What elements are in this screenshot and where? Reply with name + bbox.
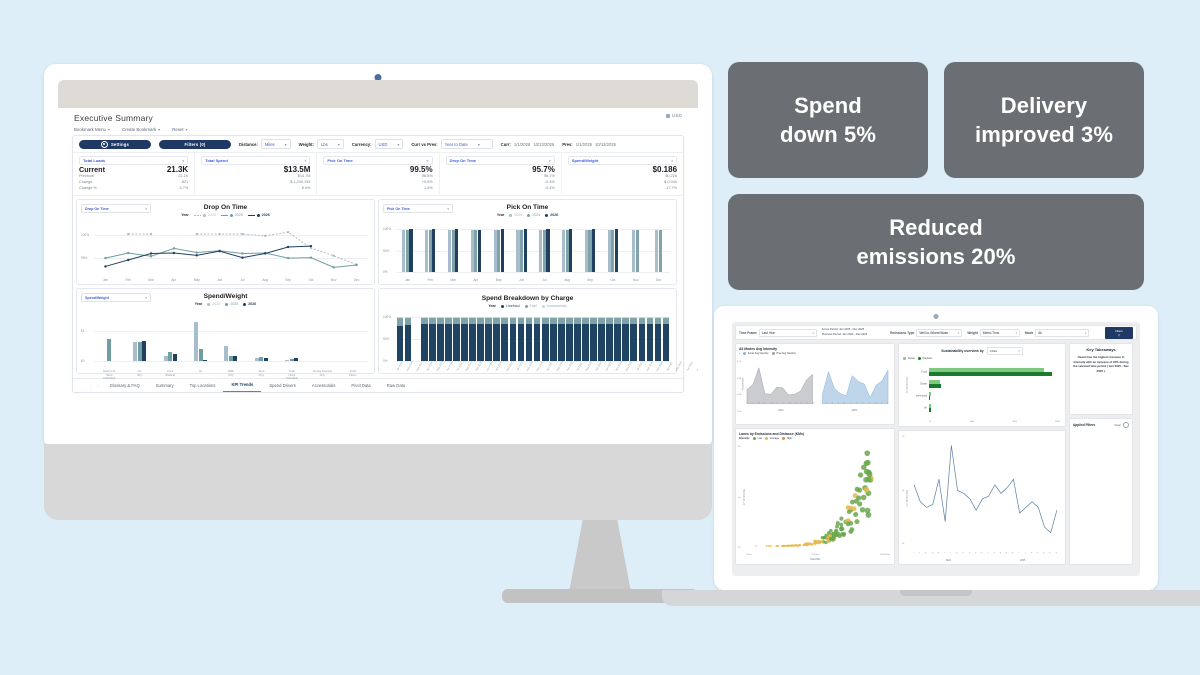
bar-2025[interactable] xyxy=(659,230,662,272)
x-axis-tick: Truck(TempControlled) xyxy=(277,370,307,381)
legend-item-low[interactable]: Low xyxy=(753,437,762,440)
bookmark-menu-item[interactable]: Bookmark Menu▾ xyxy=(74,127,110,132)
x-axis-tick: Sep xyxy=(277,279,300,283)
stacked-bar[interactable] xyxy=(534,317,541,361)
legend-toggle-icon[interactable]: ▪ xyxy=(739,352,740,355)
segment-Linehaul xyxy=(630,324,637,361)
x-axis: JFMAMJJASONDJFMAMJJASOND xyxy=(744,402,891,404)
segment-Fuel xyxy=(405,318,412,325)
x-axis-tick: A xyxy=(861,400,866,406)
y-axis-tick: 7k xyxy=(902,436,904,438)
scatter-point xyxy=(782,545,784,547)
kpi-select[interactable]: Drop On Time▾ xyxy=(446,156,555,165)
y-axis-tick: 50% xyxy=(383,249,389,253)
legend-item-2026[interactable]: 2026 xyxy=(545,213,558,217)
x-axis-group-label: 2024 xyxy=(911,559,986,562)
screenshot-canvas: Executive Summary USD Bookmark Menu▾ Cre… xyxy=(0,0,1200,675)
x-axis-tick: 400k xyxy=(1012,421,1017,423)
bar-group xyxy=(647,228,670,272)
line-chart-svg xyxy=(94,228,368,272)
x-axis-tick: Apr 2025 xyxy=(546,362,553,372)
bar-2026[interactable] xyxy=(203,360,207,361)
stacked-bar[interactable] xyxy=(655,317,662,361)
bar-group xyxy=(517,317,525,361)
curr-to-date[interactable]: 10/13/2026 xyxy=(533,142,554,147)
stacked-bar[interactable] xyxy=(518,317,525,361)
x-axis-tick: J xyxy=(986,550,991,556)
stacked-bar[interactable] xyxy=(614,317,621,361)
chevron-down-icon: ▾ xyxy=(145,207,147,211)
data-point xyxy=(196,251,198,253)
bar-group xyxy=(556,228,579,272)
kpi-select[interactable]: Total Loads▾ xyxy=(79,156,188,165)
hbar-Previous[interactable] xyxy=(929,408,931,412)
stacked-bar[interactable] xyxy=(639,317,646,361)
bar-2026[interactable] xyxy=(173,354,177,361)
y-axis-tick: 0.12 xyxy=(737,361,741,363)
scatter-point xyxy=(863,487,869,493)
bar-2026[interactable] xyxy=(432,229,435,272)
bar-2024[interactable] xyxy=(194,322,198,361)
x-axis-tick: M xyxy=(924,550,929,556)
spend-weight-select[interactable]: Spend/Weight ▾ xyxy=(81,293,151,302)
stacked-bar[interactable] xyxy=(421,317,428,361)
gear-icon xyxy=(101,141,108,148)
x-axis-tick: Sep xyxy=(579,279,602,283)
stacked-bar[interactable] xyxy=(606,317,613,361)
bar-2025[interactable] xyxy=(107,339,111,361)
x-axis-tick: N xyxy=(806,400,811,406)
x-axis-tick: Jan 2026 xyxy=(636,361,644,371)
chevron-down-icon: ▾ xyxy=(338,142,340,147)
x-axis-tick: May xyxy=(185,279,208,283)
data-point xyxy=(150,252,152,254)
scatter-point xyxy=(796,544,798,546)
x-axis-tick: Dec xyxy=(647,279,670,283)
legend-item-2025[interactable]: 2025 xyxy=(225,302,238,306)
chevron-down-icon: ▾ xyxy=(145,296,147,300)
bar-2024[interactable] xyxy=(255,358,259,361)
middle-column: Sustainability overview by CO2e▾ Focus P… xyxy=(898,343,1066,565)
segment-Linehaul xyxy=(574,324,581,361)
filters-button[interactable]: Filters (0) xyxy=(159,140,231,149)
bar-2024[interactable] xyxy=(224,346,228,361)
right-column: Key Takeaways Ocean has the highest incr… xyxy=(1069,343,1133,565)
legend-item-focus[interactable]: Focus Avg Intensity xyxy=(743,352,769,355)
scatter-point xyxy=(853,512,858,517)
bar-group xyxy=(541,317,549,361)
stacked-bar[interactable] xyxy=(437,317,444,361)
scatter-point xyxy=(848,529,853,534)
y-axis-tick: 0.04 xyxy=(737,394,741,396)
x-axis-tick: J xyxy=(949,550,954,556)
stacked-bar[interactable] xyxy=(582,317,589,361)
hbar-Focus[interactable] xyxy=(929,368,1044,372)
bar-group xyxy=(565,317,573,361)
tab-top-locations[interactable]: Top Locations xyxy=(182,380,224,392)
card-title: All Modes Avg Intensity xyxy=(739,347,891,351)
scatter-point xyxy=(839,523,843,527)
bar-group xyxy=(630,317,638,361)
timeframe-select[interactable]: Last Year▾ xyxy=(759,329,817,337)
stacked-bar[interactable] xyxy=(477,317,484,361)
chevron-down-icon: ▾ xyxy=(285,142,287,147)
compare-select[interactable]: Year to Date ▾ xyxy=(441,139,493,149)
stacked-bar[interactable] xyxy=(453,317,460,361)
data-point xyxy=(196,233,198,235)
drop-on-time-select[interactable]: Drop On Time ▾ xyxy=(81,204,151,213)
legend-item-average[interactable]: Average xyxy=(765,437,779,440)
bar-group xyxy=(428,317,436,361)
stacked-bar[interactable] xyxy=(542,317,549,361)
x-axis: Jan 2024Feb 2024Mar 2024Apr 2024May 2024… xyxy=(396,370,670,373)
kpi-card-pick-on-time: Pick On Time▾99.5%98.5%+0.9%1.0% xyxy=(317,153,439,195)
x-axis-tick: F xyxy=(992,550,997,556)
stacked-bar[interactable] xyxy=(630,317,637,361)
bar-2026[interactable] xyxy=(592,229,595,272)
bar-2025[interactable] xyxy=(290,359,294,361)
y-axis-tick: 0% xyxy=(383,359,388,363)
bar-2025[interactable] xyxy=(636,230,639,272)
reset-bookmark-item[interactable]: Reset▾ xyxy=(172,127,188,132)
x-axis-tick: Feb 2026 xyxy=(646,361,654,371)
scatter-point xyxy=(835,524,839,528)
weight-filter: Weight Metric Tons▾ xyxy=(967,329,1020,337)
data-point xyxy=(241,256,243,258)
segment-Linehaul xyxy=(429,324,436,361)
bar-2025[interactable] xyxy=(229,356,233,361)
x-axis-tick: Apr xyxy=(162,279,185,283)
card-legend: Intensity: Low Average High xyxy=(739,437,891,440)
legend-item-high[interactable]: High xyxy=(782,437,792,440)
stacked-bar[interactable] xyxy=(429,317,436,361)
card-sustainability-overview: Sustainability overview by CO2e▾ Focus P… xyxy=(898,343,1066,427)
bar-group xyxy=(307,317,337,361)
chevron-down-icon: ▾ xyxy=(158,127,160,132)
tab-glossary-faq[interactable]: Glossary & FAQ xyxy=(102,380,148,392)
x-axis-tick: F xyxy=(918,550,923,556)
bar-group xyxy=(638,317,646,361)
category-label: Intermodal xyxy=(903,395,927,398)
scatter-point xyxy=(839,517,843,521)
stacked-bar[interactable] xyxy=(405,317,412,361)
legend-item-2024[interactable]: 2024 xyxy=(509,213,522,217)
hbar-Focus[interactable] xyxy=(929,404,931,408)
stacked-bar[interactable] xyxy=(413,317,420,361)
chart-grid: Drop On Time ▾ Drop On Time Year xyxy=(73,196,683,377)
data-point xyxy=(173,252,175,254)
bar-group xyxy=(606,317,614,361)
co2e-select[interactable]: CO2e▾ xyxy=(987,347,1023,355)
monitor-chin xyxy=(44,444,712,520)
kpi-select[interactable]: Pick On Time▾ xyxy=(323,156,432,165)
stacked-bar[interactable] xyxy=(469,317,476,361)
bar-2026[interactable] xyxy=(569,229,572,272)
chart-card-pick-on-time: Pick On Time ▾ Pick On Time Year 2024 20… xyxy=(378,199,677,285)
x-axis-tick: J xyxy=(855,400,860,406)
stacked-bar[interactable] xyxy=(461,317,468,361)
chevron-down-icon: ▾ xyxy=(549,159,551,163)
bar-2026[interactable] xyxy=(501,229,504,272)
stacked-bar[interactable] xyxy=(501,317,508,361)
scatter-point xyxy=(857,488,862,493)
segment-Linehaul xyxy=(622,324,629,361)
currency-select[interactable]: USD ▾ xyxy=(375,139,404,149)
x-axis-tick: Aug xyxy=(556,279,579,283)
segment-Linehaul xyxy=(550,324,557,361)
x-axis-group-label: 2025 xyxy=(818,409,892,412)
bar-2026[interactable] xyxy=(142,341,146,361)
line-series-2025 xyxy=(105,248,356,267)
legend-item-2024[interactable]: 2024 xyxy=(207,302,220,306)
y-axis-tick: 0k xyxy=(738,446,740,448)
bar-group xyxy=(493,317,501,361)
x-axis-tick: D xyxy=(980,550,985,556)
monitor-screen: Executive Summary USD Bookmark Menu▾ Cre… xyxy=(58,80,698,435)
stacked-bar[interactable] xyxy=(558,317,565,361)
area-series-Focus Avg Intensity xyxy=(822,370,888,404)
bar-2026[interactable] xyxy=(409,229,412,272)
x-axis-label: Total KMs xyxy=(736,558,894,561)
y-axis-tick: 100% xyxy=(81,233,89,237)
hbar-Previous[interactable] xyxy=(929,372,1052,376)
bar-group xyxy=(396,317,404,361)
stacked-bar[interactable] xyxy=(397,317,404,361)
stacked-bar[interactable] xyxy=(445,317,452,361)
hbar-Focus[interactable] xyxy=(929,380,940,384)
scatter-point xyxy=(826,536,830,540)
kpi-strip: Total Loads▾Current21.3KPrevious22.1KCha… xyxy=(73,153,683,196)
x-axis-tick: Oct 2025 xyxy=(605,362,612,372)
executive-summary-dashboard: Executive Summary USD Bookmark Menu▾ Cre… xyxy=(58,108,698,435)
kpi-select[interactable]: Total Spend▾ xyxy=(201,156,310,165)
x-axis: JFMAMJJASONDJFMAMJJASOND xyxy=(911,552,1060,554)
bar-2026[interactable] xyxy=(233,356,237,361)
scatter-point xyxy=(863,477,869,483)
bar-group xyxy=(509,317,517,361)
hbar-Previous[interactable] xyxy=(929,384,941,388)
x-axis-tick: D xyxy=(1054,550,1059,556)
x-axis-tick: Sep 2024 xyxy=(475,361,483,371)
weight-select[interactable]: Metric Tons▾ xyxy=(980,329,1020,337)
settings-button[interactable]: Settings xyxy=(79,140,151,149)
bar-group xyxy=(487,228,510,272)
bar-group xyxy=(404,317,412,361)
bar-2025[interactable] xyxy=(168,352,172,361)
bar-2026[interactable] xyxy=(455,229,458,272)
sustainability-dashboard: Time Frame Last Year▾ Focus Period: Jan … xyxy=(732,322,1140,576)
stacked-bar[interactable] xyxy=(647,317,654,361)
weight-select[interactable]: Lbs ▾ xyxy=(317,139,344,149)
x-axis-tick: Dec 2024 xyxy=(506,361,514,371)
legend-item-accessorials[interactable]: Accessorials xyxy=(542,304,567,308)
x-axis-tick: S xyxy=(961,550,966,556)
x-axis-tick: Jun 2025 xyxy=(566,361,574,371)
bar-group xyxy=(185,317,215,361)
bar-2025[interactable] xyxy=(199,349,203,361)
x-axis-tick: Nov xyxy=(322,279,345,283)
stacked-bar[interactable] xyxy=(622,317,629,361)
segment-Linehaul xyxy=(614,324,621,361)
data-point xyxy=(287,246,289,248)
bar-2026[interactable] xyxy=(615,229,618,272)
x-axis-tick: Truck(Dry) xyxy=(246,370,276,381)
distance-filter: Distance: Miles ▾ xyxy=(239,139,291,149)
hbar-Focus[interactable] xyxy=(929,392,931,396)
x-axis: 0.0mi1,000mi100,000mi xyxy=(746,554,890,556)
bar-2025[interactable] xyxy=(138,342,142,361)
hbar-Previous[interactable] xyxy=(929,396,930,400)
kpi-card-total-loads: Total Loads▾Current21.3KPrevious22.1KCha… xyxy=(73,153,195,195)
stacked-bar[interactable] xyxy=(598,317,605,361)
callout-card-delivery: Deliveryimproved 3% xyxy=(944,62,1144,178)
mode-select[interactable]: All▾ xyxy=(1035,329,1089,337)
segment-Linehaul xyxy=(437,324,444,361)
x-axis-tick: 0k xyxy=(929,421,931,423)
scatter-point xyxy=(832,532,836,536)
bar-2024[interactable] xyxy=(285,360,289,361)
legend-item-previous[interactable]: Previous xyxy=(918,357,932,360)
tab-summary[interactable]: Summary xyxy=(148,380,182,392)
plot-area: 100%95%JanFebMarAprMayJunJulAugSepOctNov… xyxy=(81,228,370,272)
scatter-svg xyxy=(746,447,890,548)
y-axis-tick: 2k xyxy=(738,547,740,549)
x-axis-tick: Apr xyxy=(464,279,487,283)
scatter-point xyxy=(864,450,870,456)
x-axis-tick: Nov 2024 xyxy=(495,361,503,371)
tab-pivot-data[interactable]: Pivot Data xyxy=(343,380,378,392)
scatter-point xyxy=(852,506,857,511)
stacked-bar[interactable] xyxy=(550,317,557,361)
y-axis-tick: 100% xyxy=(383,227,391,231)
bar-2026[interactable] xyxy=(264,358,268,361)
scatter-point xyxy=(846,522,851,527)
chart-card-spend-breakdown: Spend Breakdown by Charge Year Linehaul … xyxy=(378,288,677,374)
x-axis-tick: A xyxy=(1030,550,1035,556)
segment-Linehaul xyxy=(639,324,646,361)
create-bookmark-item[interactable]: Create Bookmark▾ xyxy=(122,127,160,132)
legend-item-2026[interactable]: 2026 xyxy=(243,302,256,306)
kpi-select[interactable]: Spend/Weight▾ xyxy=(568,156,677,165)
tabs-prev-icon[interactable]: ‹ xyxy=(87,383,94,388)
x-axis-tick: J xyxy=(1017,550,1022,556)
bar-2026[interactable] xyxy=(478,230,481,273)
data-point xyxy=(310,256,312,258)
x-axis: 0k200k400k600k xyxy=(929,421,1060,423)
x-axis: JanFebMarAprMayJunJulAugSepOctNovDec xyxy=(94,279,368,283)
curr-from-date[interactable]: 1/1/2026 xyxy=(514,142,530,147)
kpi-title: Spend/Weight xyxy=(572,158,599,163)
desktop-monitor: Executive Summary USD Bookmark Menu▾ Cre… xyxy=(44,64,712,520)
bar-group xyxy=(525,317,533,361)
distance-select[interactable]: Miles ▾ xyxy=(261,139,291,149)
tab-accessorials[interactable]: Accessorials xyxy=(304,380,344,392)
stacked-bar[interactable] xyxy=(574,317,581,361)
x-axis-tick: Aug 2025 xyxy=(585,361,593,371)
legend-item-2026[interactable]: 2026 xyxy=(248,213,270,217)
laptop-bezel: Time Frame Last Year▾ Focus Period: Jan … xyxy=(714,306,1158,590)
bar-2025[interactable] xyxy=(259,357,263,361)
data-point xyxy=(218,250,220,252)
gridline xyxy=(94,361,368,362)
bar-2024[interactable] xyxy=(133,342,137,361)
data-point xyxy=(127,233,129,235)
currency-filter: Currency: USD ▾ xyxy=(352,139,404,149)
tab-spend-drivers[interactable]: Spend Drivers xyxy=(261,380,304,392)
stacked-bar[interactable] xyxy=(526,317,533,361)
bar-2026[interactable] xyxy=(524,229,527,272)
category-label: Truck xyxy=(903,371,927,374)
scatter-point xyxy=(865,508,871,514)
emissions-type-select[interactable]: Well-to-Wheel/Wake▾ xyxy=(916,329,962,337)
data-point xyxy=(150,255,152,257)
prev-to-date[interactable]: 10/13/2025 xyxy=(595,142,616,147)
applied-filters-header: Applied Filters Clear xyxy=(1073,422,1129,428)
legend-item-2025[interactable]: 2025 xyxy=(527,213,540,217)
tabs-first-icon[interactable]: ‹ xyxy=(94,383,101,388)
x-axis-tick: Jul 2024 xyxy=(456,362,463,371)
bar-2026[interactable] xyxy=(294,358,298,361)
browser-chrome-bar xyxy=(58,80,698,108)
line-chart-svg xyxy=(911,437,1060,544)
segment-Linehaul xyxy=(558,324,565,361)
legend-item-2024[interactable]: 2024 xyxy=(194,213,216,217)
x-axis-tick: N xyxy=(974,550,979,556)
clear-filters-button[interactable]: Clear xyxy=(1114,422,1129,428)
card-applied-filters: Applied Filters Clear xyxy=(1069,418,1133,565)
segment-Linehaul xyxy=(655,324,662,361)
legend-item-focus[interactable]: Focus xyxy=(903,357,915,360)
pick-on-time-select[interactable]: Pick On Time ▾ xyxy=(383,204,453,213)
stacked-bar[interactable] xyxy=(493,317,500,361)
laptop-device: Time Frame Last Year▾ Focus Period: Jan … xyxy=(714,306,1158,606)
card-legend: Focus Previous xyxy=(903,357,932,360)
scatter-point xyxy=(850,500,855,505)
segment-Linehaul xyxy=(469,324,476,361)
segment-Linehaul xyxy=(461,324,468,361)
chevron-down-icon: ▾ xyxy=(397,142,399,147)
laptop-trackpad-notch xyxy=(900,590,972,596)
legend-item-2025[interactable]: 2025 xyxy=(221,213,243,217)
stacked-bar[interactable] xyxy=(566,317,573,361)
data-point xyxy=(127,252,129,254)
data-point xyxy=(241,252,243,254)
x-axis-tick: Mar 2025 xyxy=(536,361,544,371)
chevron-down-icon: ▾ xyxy=(812,331,813,335)
scatter-point xyxy=(808,542,811,545)
bar-2026[interactable] xyxy=(546,229,549,272)
legend-item-linehaul[interactable]: Linehaul xyxy=(501,304,520,308)
x-axis-tick: Aug 2024 xyxy=(465,361,473,371)
chevron-down-icon: ▾ xyxy=(1015,331,1016,335)
stacked-bar[interactable] xyxy=(590,317,597,361)
plot-area: $1$0Reefer LTL(TempControlled)LTL(Dry)Tr… xyxy=(81,317,370,361)
kpi-title: Pick On Time xyxy=(327,158,352,163)
segment-Linehaul xyxy=(647,324,654,361)
stacked-bar[interactable] xyxy=(510,317,517,361)
x-axis-tick: D xyxy=(812,400,817,406)
filters-button[interactable]: Filters ▽ xyxy=(1105,327,1133,339)
x-axis-tick: Air xyxy=(185,370,215,381)
bar-2024[interactable] xyxy=(164,356,168,361)
prev-from-date[interactable]: 1/1/2025 xyxy=(576,142,592,147)
legend-item-fuel[interactable]: Fuel xyxy=(525,304,537,308)
stacked-bar[interactable] xyxy=(485,317,492,361)
legend-item-prev[interactable]: Prev Avg Intensity xyxy=(772,352,796,355)
hbar-group: Ocean xyxy=(929,378,1060,390)
stacked-bar[interactable] xyxy=(663,317,670,361)
tab-raw-data[interactable]: Raw Data xyxy=(379,380,413,392)
